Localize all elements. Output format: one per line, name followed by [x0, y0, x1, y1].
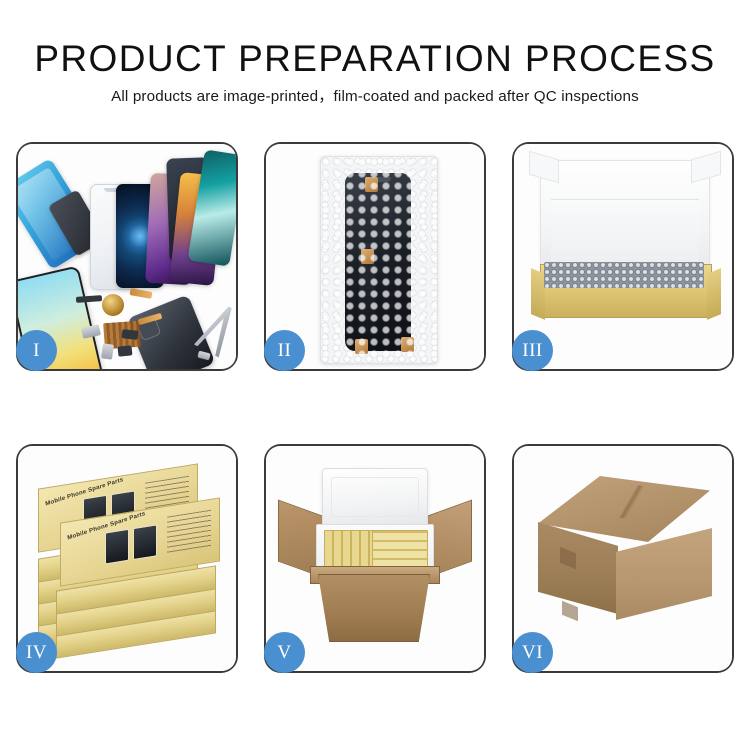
process-step-4: Mobile Phone Spare Parts Mobile Phone Sp…	[16, 444, 238, 673]
protective-tab-middle-image	[361, 249, 374, 264]
protective-tab-right-image	[401, 337, 414, 352]
retail-box-stack-image: Mobile Phone Spare Parts Mobile Phone Sp…	[30, 462, 226, 652]
process-step-2: II	[264, 142, 486, 371]
sealed-carton-right-image	[616, 528, 712, 620]
sim-tray-part-image	[101, 343, 114, 359]
box-spec-lines-2	[167, 510, 211, 555]
process-step-5: V	[264, 444, 486, 673]
wrapped-screen-image	[345, 173, 411, 351]
page-subtitle: All products are image-printed，film-coat…	[0, 87, 750, 107]
speaker-part-image	[118, 345, 133, 356]
bracket-part-image	[81, 324, 101, 339]
box-product-thumb-2b	[133, 524, 157, 560]
step-4-badge: IV	[16, 632, 57, 673]
inner-box-lid-panel-image	[551, 199, 699, 266]
vibration-motor-part-image	[102, 294, 124, 316]
camera-module-part-image	[122, 329, 139, 340]
foam-case-lid-image	[322, 468, 428, 528]
protective-tab-top-image	[365, 177, 378, 192]
inner-box-lid-image	[540, 160, 710, 270]
box-product-thumb-2a	[105, 529, 129, 565]
carton-tape-lower-image	[562, 601, 578, 621]
earpiece-part-image	[76, 295, 102, 303]
carton-front-panel-image	[318, 574, 430, 642]
flex-cable-part-image	[130, 288, 153, 299]
page-title: PRODUCT PREPARATION PROCESS	[0, 38, 750, 80]
step-3-badge: III	[512, 330, 553, 371]
bubble-wrap-bag-image	[320, 156, 438, 364]
step-1-badge: I	[16, 330, 57, 371]
step-6-badge: VI	[512, 632, 553, 673]
sealed-carton-left-image	[538, 522, 618, 614]
process-step-6: VI	[512, 444, 734, 673]
header: PRODUCT PREPARATION PROCESS All products…	[0, 38, 750, 107]
protective-tab-left-image	[355, 339, 368, 354]
bubble-wrap-fill-image	[544, 262, 704, 288]
process-step-1: I	[16, 142, 238, 371]
process-step-3: III	[512, 142, 734, 371]
process-step-grid: I II	[16, 142, 735, 673]
packed-boxes-row-2-image	[372, 530, 428, 568]
step-5-badge: V	[264, 632, 305, 673]
infographic-page: PRODUCT PREPARATION PROCESS All products…	[0, 0, 750, 750]
step-2-badge: II	[264, 330, 305, 371]
